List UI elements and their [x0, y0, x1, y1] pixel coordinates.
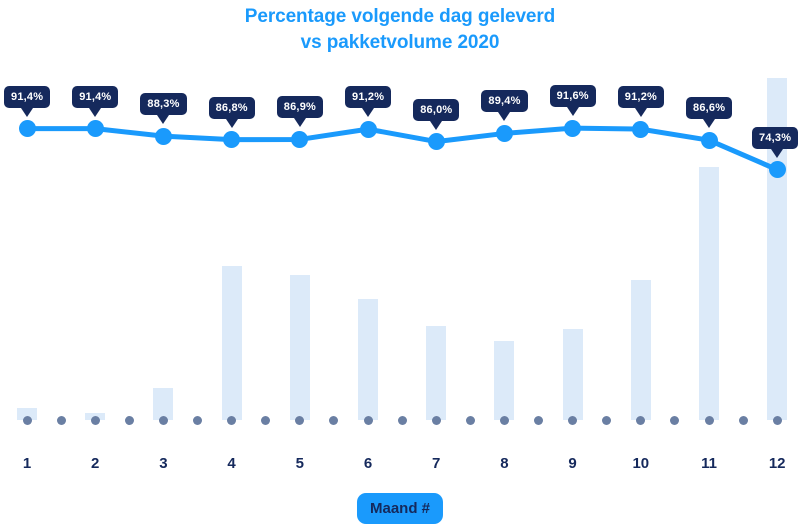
badge-pointer	[21, 108, 33, 117]
x-axis-tick-label: 5	[280, 455, 320, 472]
badge-pointer	[226, 119, 238, 128]
badge-pointer	[294, 118, 306, 127]
badge-pointer	[89, 108, 101, 117]
x-axis-tick-label: 1	[7, 455, 47, 472]
x-axis-tick-label: 8	[484, 455, 524, 472]
line-marker[interactable]	[428, 133, 445, 150]
value-badge[interactable]: 91,6%	[550, 85, 596, 107]
x-axis-tick-label: 6	[348, 455, 388, 472]
line-marker[interactable]	[496, 125, 513, 142]
line-marker[interactable]	[19, 120, 36, 137]
badge-pointer	[498, 112, 510, 121]
value-badge[interactable]: 86,8%	[209, 97, 255, 119]
value-badge[interactable]: 86,9%	[277, 96, 323, 118]
x-axis-tick-label: 2	[75, 455, 115, 472]
x-axis-tick-label: 4	[212, 455, 252, 472]
value-badge[interactable]: 86,0%	[413, 99, 459, 121]
value-badge[interactable]: 91,2%	[618, 86, 664, 108]
x-axis-tick-label: 11	[689, 455, 729, 472]
x-axis-tick-label: 10	[621, 455, 661, 472]
value-badge[interactable]: 91,4%	[72, 86, 118, 108]
x-axis-title-pill: Maand #	[357, 493, 443, 524]
x-axis-tick-label: 12	[757, 455, 797, 472]
plot-area: 91,4%91,4%88,3%86,8%86,9%91,2%86,0%89,4%…	[0, 0, 800, 440]
line-marker[interactable]	[632, 121, 649, 138]
value-badge[interactable]: 91,2%	[345, 86, 391, 108]
line-marker[interactable]	[701, 132, 718, 149]
chart-root: Percentage volgende dag geleverd vs pakk…	[0, 0, 800, 532]
x-axis-tick-label: 9	[553, 455, 593, 472]
badge-pointer	[362, 108, 374, 117]
line-marker[interactable]	[360, 121, 377, 138]
badge-pointer	[635, 108, 647, 117]
value-badge[interactable]: 88,3%	[140, 93, 186, 115]
line-series-layer	[0, 0, 800, 440]
badge-pointer	[771, 149, 783, 158]
x-axis-tick-label: 7	[416, 455, 456, 472]
line-marker[interactable]	[87, 120, 104, 137]
x-axis-tick-label: 3	[143, 455, 183, 472]
line-marker[interactable]	[564, 120, 581, 137]
line-path	[27, 128, 777, 170]
value-badge[interactable]: 91,4%	[4, 86, 50, 108]
line-marker[interactable]	[769, 161, 786, 178]
value-badge[interactable]: 74,3%	[752, 127, 798, 149]
value-badge[interactable]: 86,6%	[686, 97, 732, 119]
badge-pointer	[157, 115, 169, 124]
badge-pointer	[430, 121, 442, 130]
value-badge[interactable]: 89,4%	[481, 90, 527, 112]
badge-pointer	[703, 119, 715, 128]
badge-pointer	[567, 107, 579, 116]
line-marker[interactable]	[155, 128, 172, 145]
